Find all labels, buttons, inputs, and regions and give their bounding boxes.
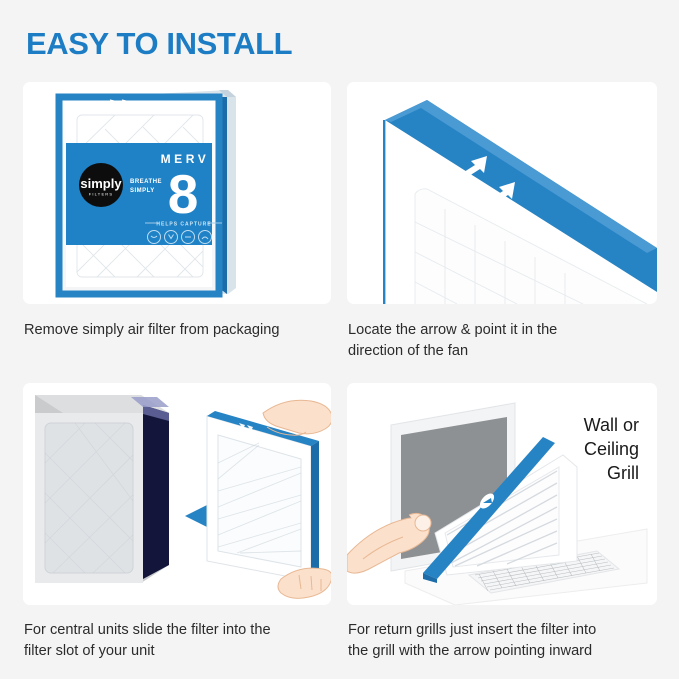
step-1-card: simply FILTERS BREATHE SIMPLY MERV 8 HEL… bbox=[23, 82, 331, 304]
grill-label-line-2: Ceiling bbox=[584, 439, 639, 459]
brand-name: simply bbox=[80, 176, 122, 191]
step-3-caption: For central units slide the filter into … bbox=[24, 620, 334, 662]
step-1-caption: Remove simply air filter from packaging bbox=[24, 320, 334, 341]
tagline-line-1: BREATHE bbox=[130, 179, 162, 185]
brand-subtitle: FILTERS bbox=[89, 192, 114, 197]
tagline-line-2: SIMPLY bbox=[130, 188, 155, 194]
filter-sliding-into-central-unit bbox=[23, 383, 331, 605]
grill-label-line-1: Wall or bbox=[584, 415, 639, 435]
filter-edge-arrow-direction bbox=[347, 82, 657, 304]
step-2-caption: Locate the arrow & point it in the direc… bbox=[348, 320, 663, 362]
filter-inserted-into-return-grill: Wall or Ceiling Grill bbox=[347, 383, 657, 605]
helps-capture-label: HELPS CAPTURE bbox=[156, 222, 211, 228]
infographic-page: EASY TO INSTALL bbox=[0, 0, 679, 679]
merv-value: 8 bbox=[168, 163, 199, 225]
filter-box-packaging: simply FILTERS BREATHE SIMPLY MERV 8 HEL… bbox=[23, 82, 331, 304]
grill-label-line-3: Grill bbox=[607, 463, 639, 483]
step-4-caption: For return grills just insert the filter… bbox=[348, 620, 666, 662]
step-4-card: Wall or Ceiling Grill bbox=[347, 383, 657, 605]
step-2-card bbox=[347, 82, 657, 304]
step-3-card bbox=[23, 383, 331, 605]
page-title: EASY TO INSTALL bbox=[26, 26, 292, 62]
